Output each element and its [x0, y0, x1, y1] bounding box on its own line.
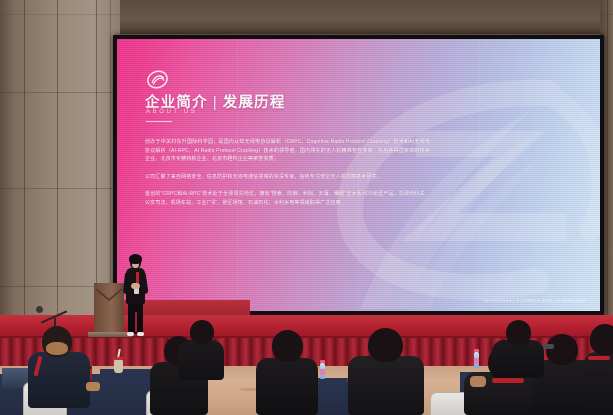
slide-paragraph: 首创的"CRPC和AI-RPC"技术处于全球领先地位，拥有"搜索、防御、利剑、天…	[145, 190, 430, 207]
slide-body: 创办于中关村东升国际科学园，是国内认知无线电协议解析（CRPC，Cognitiv…	[145, 138, 430, 217]
led-screen-display[interactable]: 企业简介|发展历程 ABOUT US 创办于中关村东升国际科学园，是国内认知无线…	[117, 39, 600, 311]
wall-seam	[607, 0, 608, 340]
water-bottle-cap	[320, 360, 325, 363]
slide-footer-note: Unrestricted | © LZTECH 2025 | August 20…	[484, 298, 586, 303]
speaker-shoe-left	[127, 332, 134, 336]
water-bottle-label	[320, 369, 325, 375]
speaker-hair	[129, 254, 142, 264]
water-bottle-cap	[474, 349, 479, 352]
slide-paragraph: 公司汇聚了来自网络安全、信息防护和无线电通信领域的资深专家，始终专注低空无人机防…	[145, 173, 430, 182]
slide-paragraph: 创办于中关村东升国际科学园，是国内认知无线电协议解析（CRPC，Cognitiv…	[145, 138, 430, 164]
wall-seam-horizontal	[0, 188, 115, 189]
ceiling-trim-line	[0, 14, 613, 15]
speaker-hands-holding-microphone	[131, 283, 140, 289]
iced-coffee-cup	[114, 360, 123, 373]
wall-seam	[24, 0, 25, 340]
conference-hall-scene: 企业简介|发展历程 ABOUT US 创办于中关村东升国际科学园，是国内认知无线…	[0, 0, 613, 415]
company-oval-logo-icon	[146, 68, 169, 91]
slide-title-divider: |	[213, 95, 218, 111]
iced-coffee-cup-lid	[113, 357, 123, 360]
water-bottle-label	[474, 358, 479, 364]
wall-seam	[57, 0, 58, 340]
speaker-shoe-right	[137, 332, 144, 336]
microphone-head-icon	[36, 306, 43, 313]
wall-seam-horizontal	[0, 92, 115, 93]
speaker-leg-gap	[135, 312, 137, 332]
podium-base-plate	[88, 332, 132, 337]
title-underline-rule	[146, 121, 172, 122]
slide-subtitle: ABOUT US	[146, 109, 197, 115]
podium-chevron-trim-icon	[96, 289, 122, 303]
slide-title-secondary: 发展历程	[223, 95, 286, 111]
